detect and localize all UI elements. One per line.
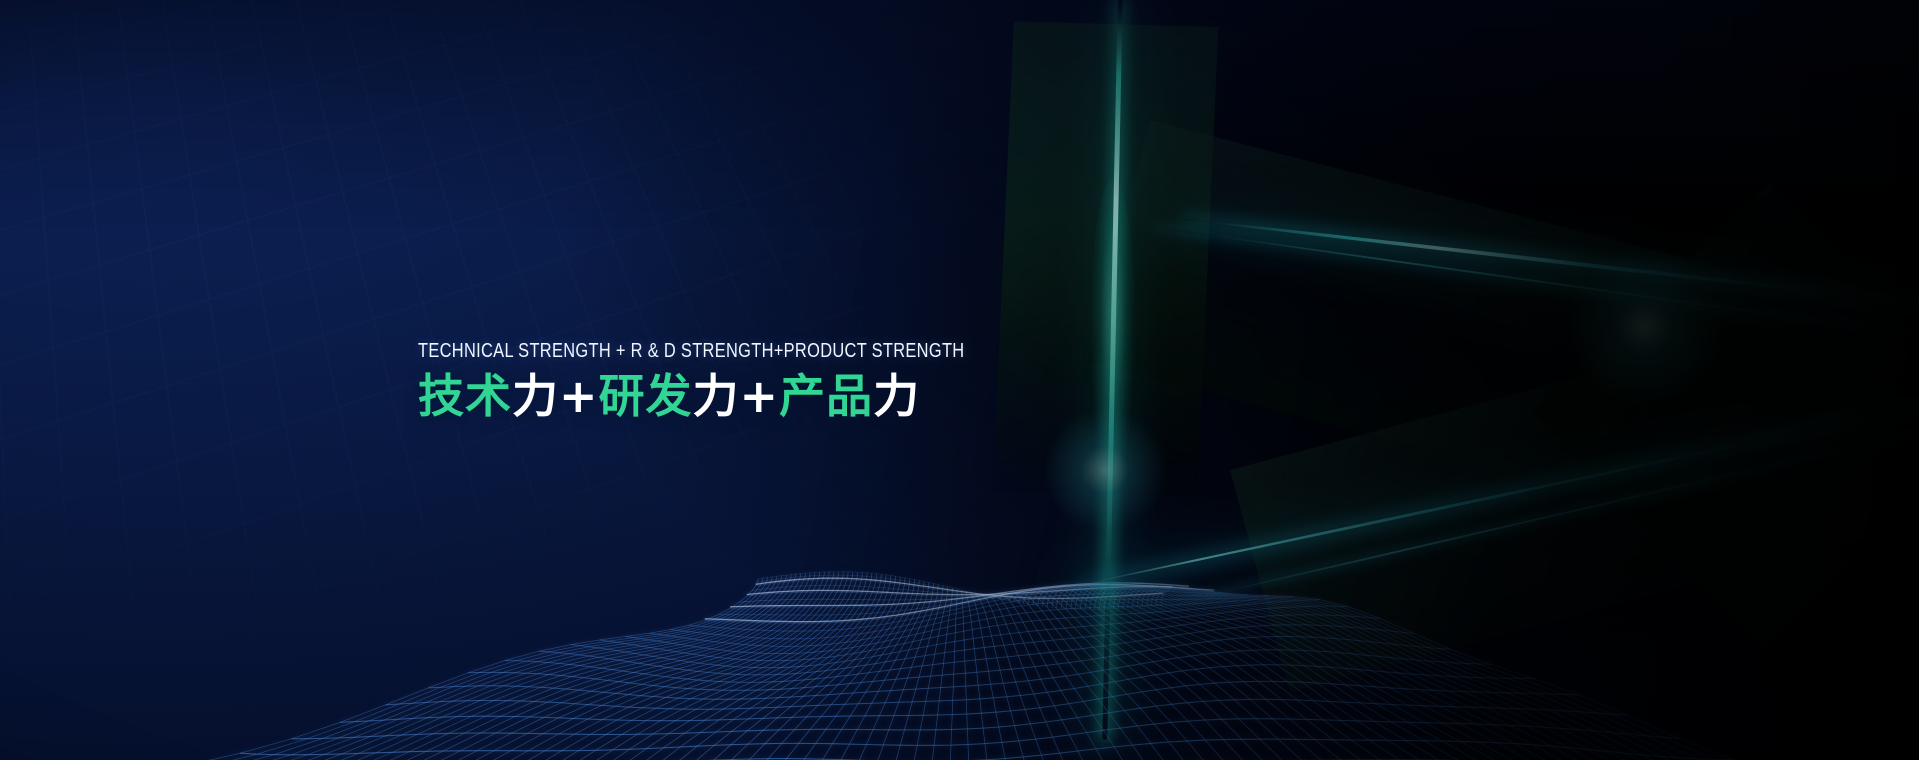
headline-segment-4: 产品 [779, 369, 873, 423]
headline-segment-3: 力+ [693, 369, 780, 423]
wireframe-terrain [0, 560, 1919, 760]
headline-segment-2: 研发 [599, 369, 693, 423]
headline-segment-0: 技术 [418, 369, 512, 423]
hero-eyebrow-text: TECHNICAL STRENGTH + R & D STRENGTH+PROD… [418, 340, 943, 362]
hero-banner: TECHNICAL STRENGTH + R & D STRENGTH+PROD… [0, 0, 1919, 760]
lens-flare-right [1555, 236, 1735, 416]
hero-headline: 技术力+研发力+产品力 [418, 371, 1058, 423]
headline-segment-1: 力+ [512, 369, 599, 423]
hero-copy-block: TECHNICAL STRENGTH + R & D STRENGTH+PROD… [418, 340, 1058, 423]
headline-segment-5: 力 [873, 369, 920, 423]
